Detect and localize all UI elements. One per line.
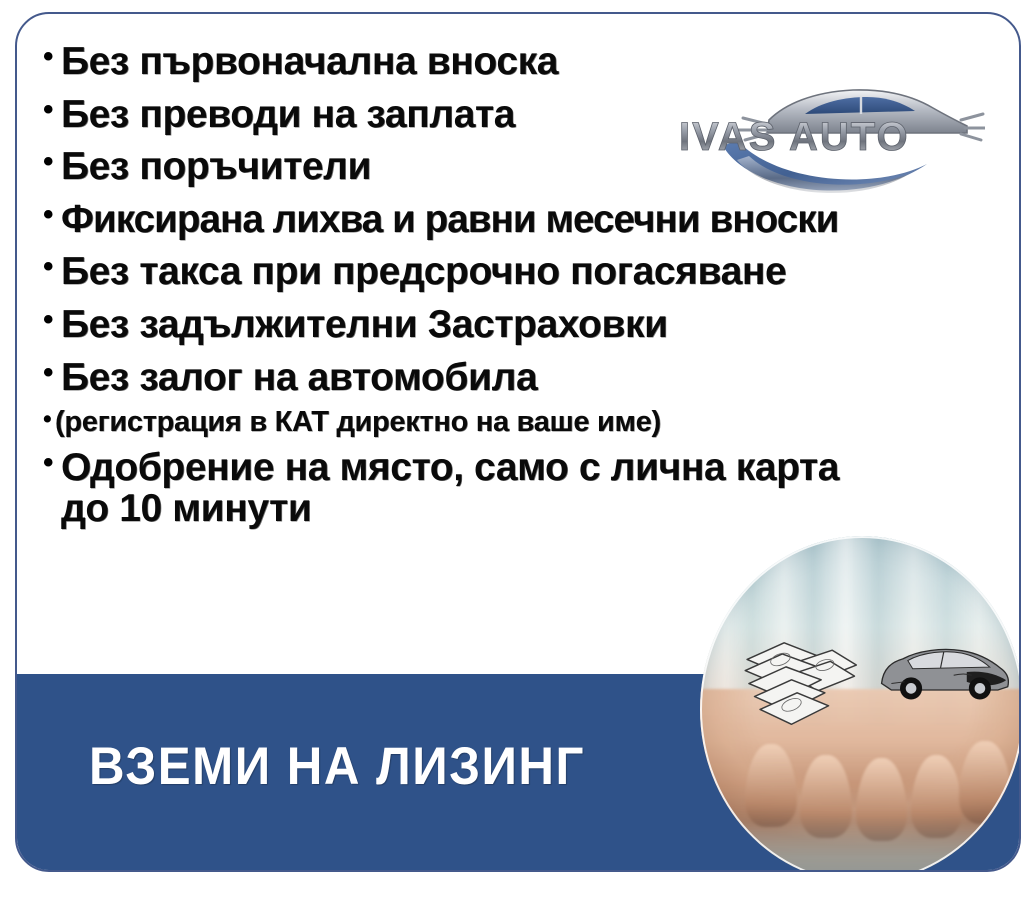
bullet-dot-icon: • (43, 251, 56, 278)
list-item: • (регистрация в КАТ директно на ваше им… (43, 407, 1003, 438)
cta-banner-title: ВЗЕМИ НА ЛИЗИНГ (89, 736, 585, 797)
list-item-label: Фиксирана лихва и равни месечни вноски (61, 199, 838, 240)
list-item: • Без задължителни Застраховки (43, 304, 1003, 346)
poster-root: • Без първоначална вноска • Без преводи … (0, 0, 1033, 902)
list-item-label: Без задължителни Застраховки (61, 304, 668, 346)
bullet-dot-icon: • (43, 447, 56, 474)
list-item: • Без първоначална вноска (43, 41, 1003, 83)
list-item: • Без преводи на заплата (43, 94, 1003, 136)
list-item: • Одобрение на място, само с лична карта… (43, 447, 1003, 530)
bullet-dot-icon: • (43, 407, 53, 430)
list-item: • Без поръчители (43, 146, 1003, 188)
bullet-dot-icon: • (43, 357, 56, 384)
hands-holding-money-and-car-photo (700, 536, 1021, 872)
list-item: • Фиксирана лихва и равни месечни вноски (43, 199, 1003, 240)
list-item-label: (регистрация в КАТ директно на ваше име) (55, 407, 661, 438)
bullet-dot-icon: • (43, 94, 56, 121)
bullet-dot-icon: • (43, 146, 56, 173)
list-item-label: Одобрение на място, само с лична карта д… (61, 447, 839, 530)
poster-frame: • Без първоначална вноска • Без преводи … (15, 12, 1021, 872)
list-item-label: Без първоначална вноска (61, 41, 558, 83)
list-item: • Без такса при предсрочно погасяване (43, 251, 1003, 293)
list-item-label: Без преводи на заплата (61, 94, 515, 136)
bullet-dot-icon: • (43, 41, 56, 68)
bullet-dot-icon: • (43, 304, 56, 331)
bullet-dot-icon: • (43, 199, 56, 226)
list-item: • Без залог на автомобила (43, 357, 1003, 399)
list-item-label: Без такса при предсрочно погасяване (61, 251, 786, 293)
benefits-list: • Без първоначална вноска • Без преводи … (43, 41, 1003, 541)
photo-oval-border (700, 536, 1021, 872)
list-item-label: Без залог на автомобила (61, 357, 537, 399)
list-item-label: Без поръчители (61, 146, 371, 188)
